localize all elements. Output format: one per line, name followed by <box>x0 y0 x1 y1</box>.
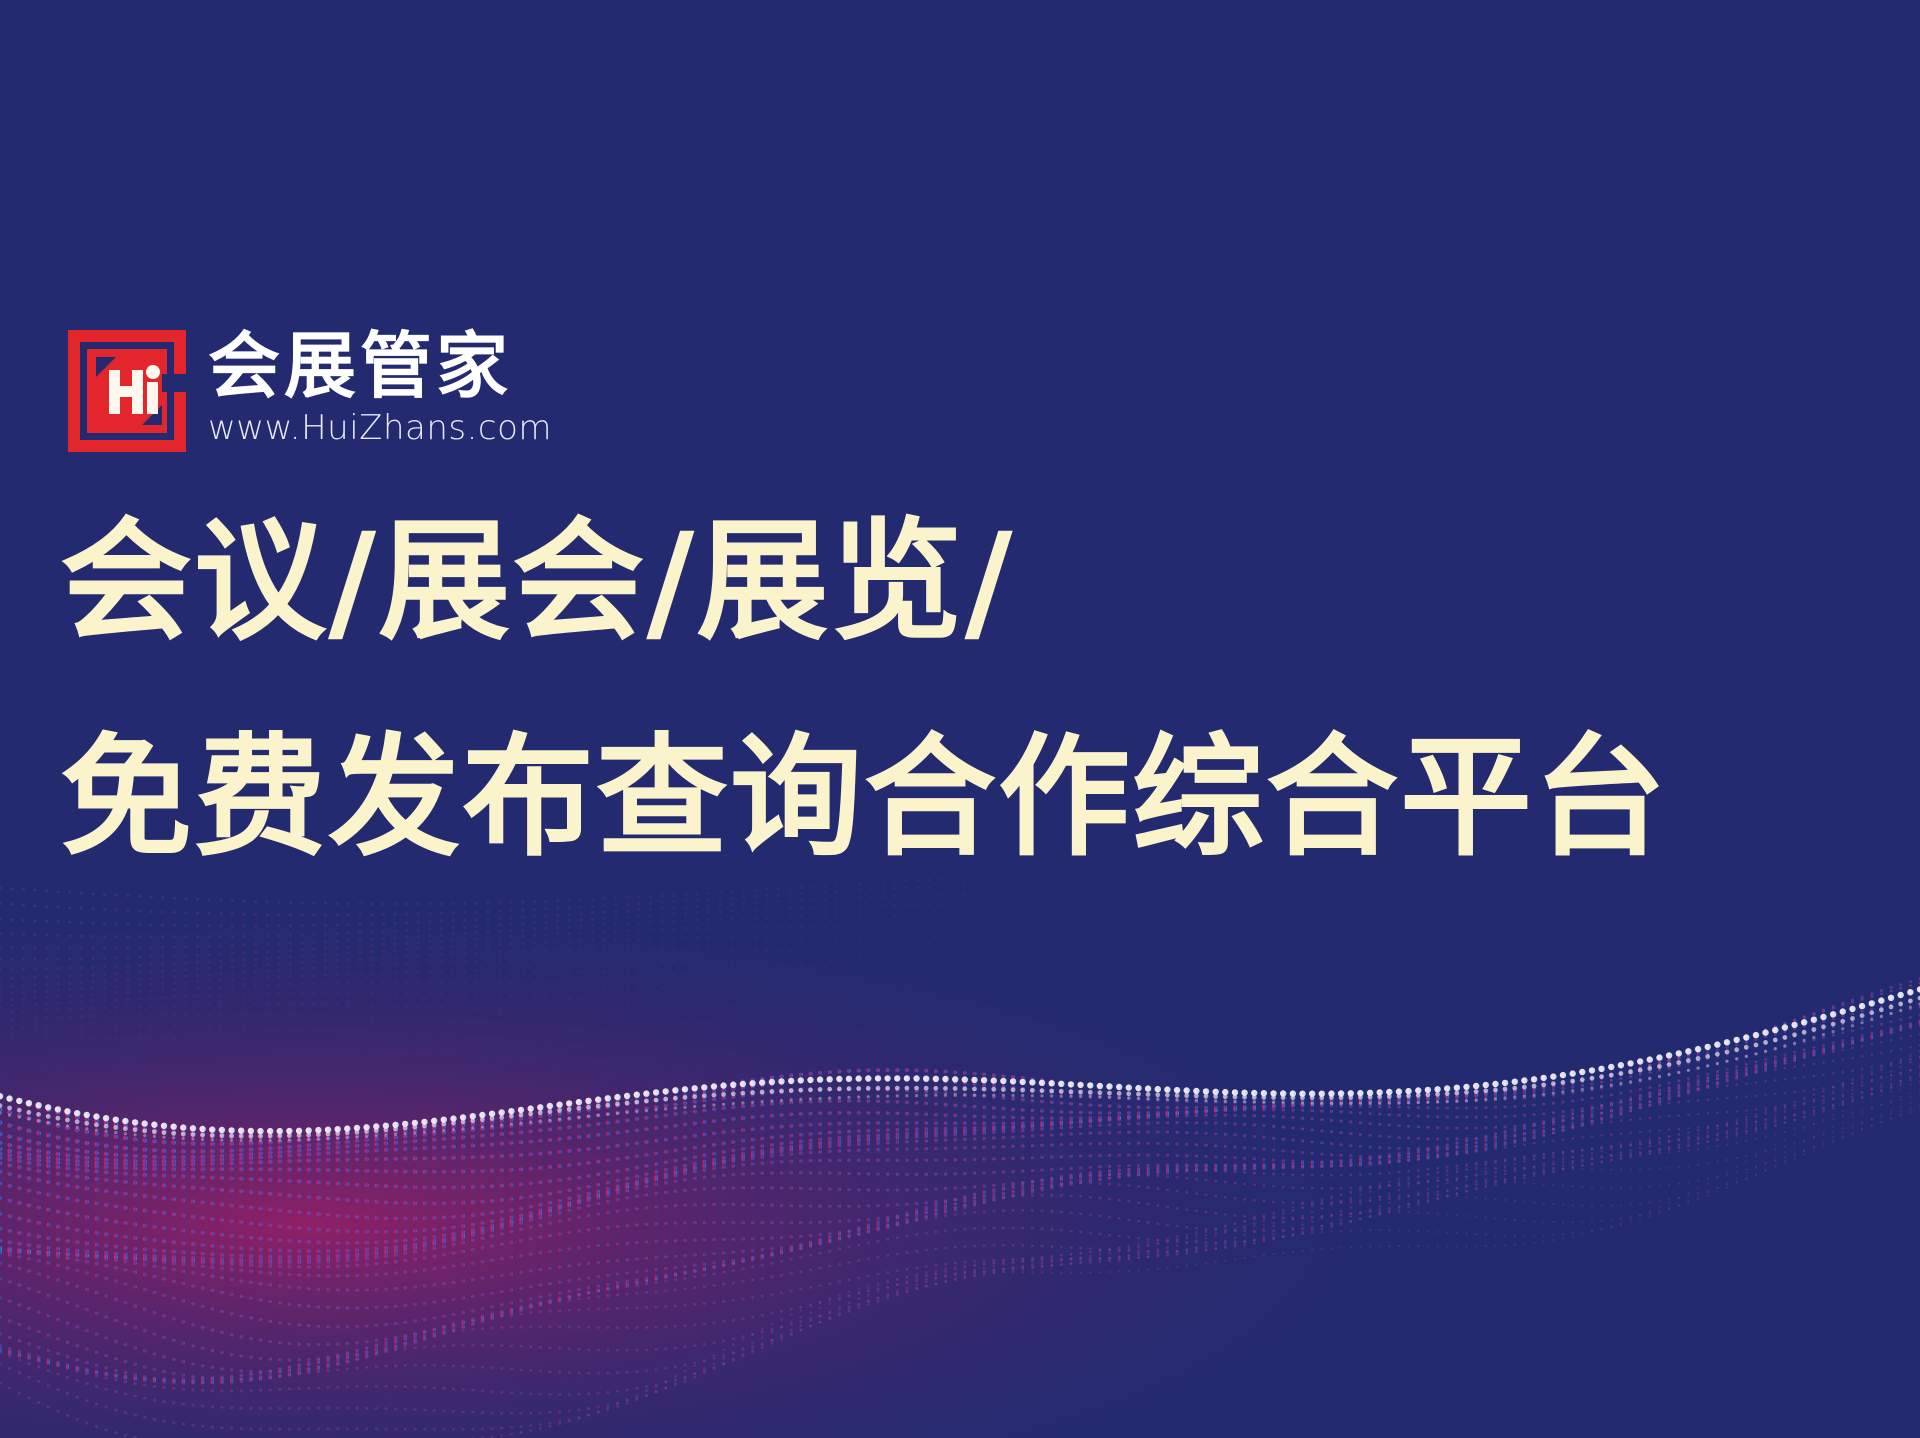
particle-wave-graphic <box>0 878 1920 1438</box>
headline-line-2: 免费发布查询合作综合平台 <box>60 721 1860 877</box>
headline-block: 会议/展会/展览/ 免费发布查询合作综合平台 <box>60 505 1860 877</box>
poster-canvas: 会展管家 www.HuiZhans.com 会议/展会/展览/ 免费发布查询合作… <box>0 0 1920 1438</box>
brand-name: 会展管家 <box>208 332 552 402</box>
headline-line-1: 会议/展会/展览/ <box>60 505 1860 661</box>
brand-url: www.HuiZhans.com <box>208 408 552 448</box>
hi-monogram-square-icon <box>68 330 186 452</box>
brand-lockup: 会展管家 www.HuiZhans.com <box>68 330 552 452</box>
wave-svg <box>0 878 1920 1438</box>
brand-text-block: 会展管家 www.HuiZhans.com <box>208 330 552 448</box>
